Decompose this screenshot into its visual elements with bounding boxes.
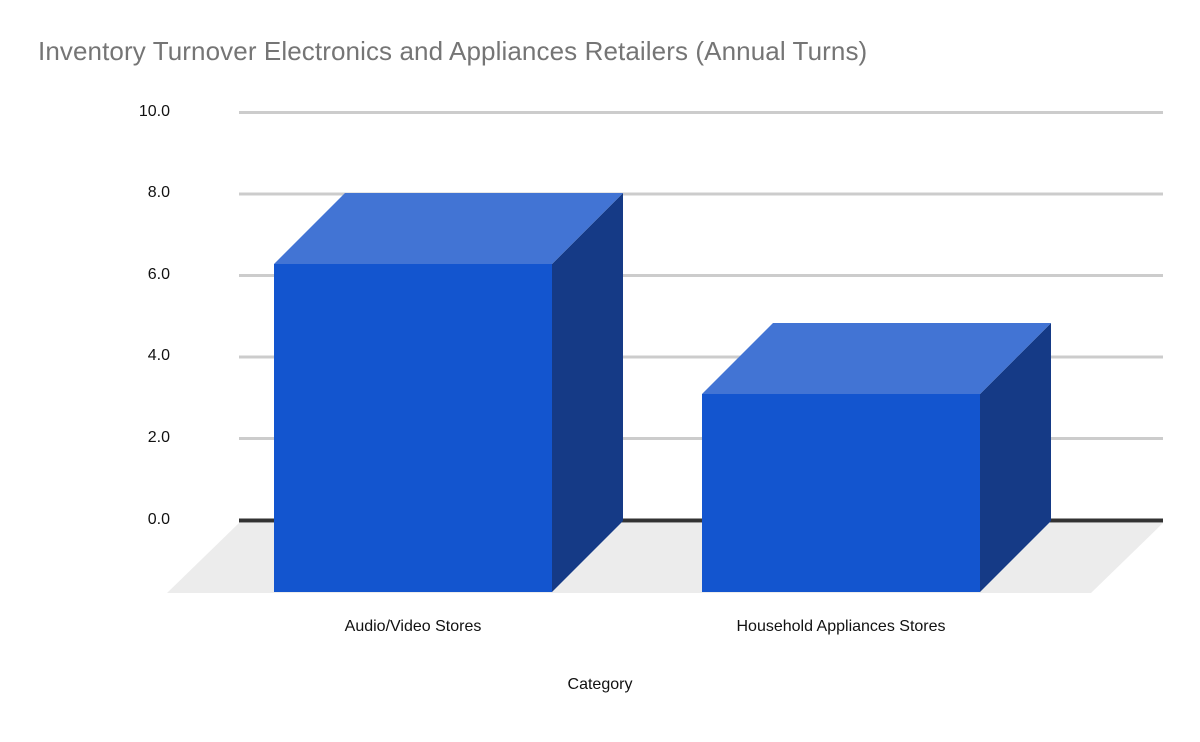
plot-area: [0, 0, 1200, 742]
bar-front-face: [274, 264, 552, 592]
x-axis-title: Category: [0, 676, 1200, 694]
x-tick-label-household-appliances-stores: Household Appliances Stores: [701, 618, 981, 636]
x-tick-label-audio-video-stores: Audio/Video Stores: [273, 618, 553, 636]
bar-audio-video-stores[interactable]: [274, 193, 623, 592]
bar-front-face: [702, 394, 980, 592]
bar-household-appliances-stores[interactable]: [702, 323, 1051, 592]
chart-container: Inventory Turnover Electronics and Appli…: [0, 0, 1200, 742]
